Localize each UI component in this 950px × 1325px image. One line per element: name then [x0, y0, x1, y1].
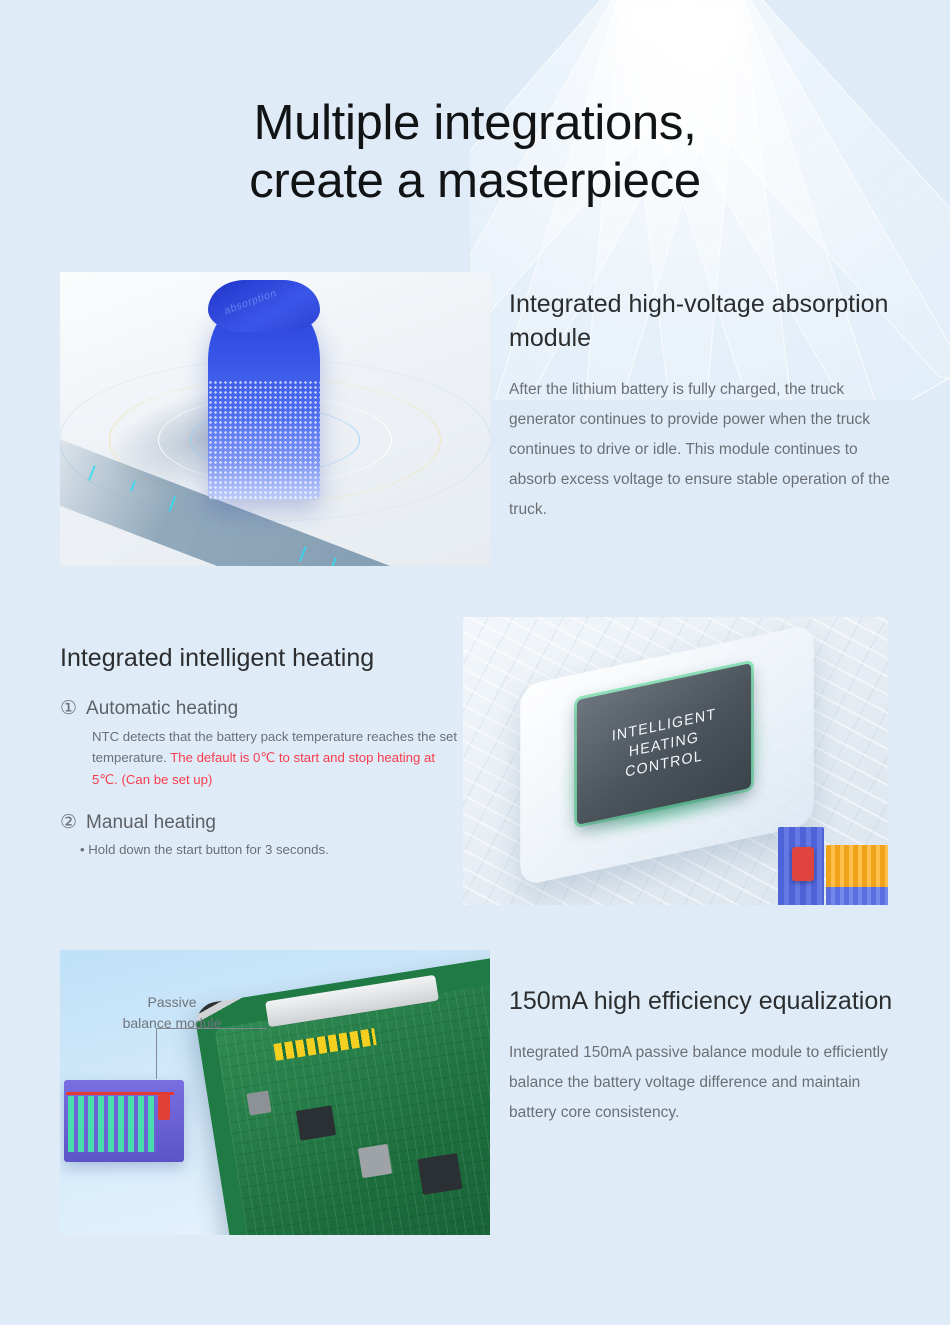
heating-item-manual: ② Manual heating [60, 812, 460, 834]
annotation-leader-line [156, 1028, 267, 1079]
absorption-module-image: absorption [60, 272, 490, 566]
equalization-heading: 150mA high efficiency equalization [509, 985, 899, 1019]
manual-heating-bullet: • Hold down the start button for 3 secon… [80, 842, 460, 857]
equalization-body: Integrated 150mA passive balance module … [509, 1038, 899, 1129]
manual-heating-label: Manual heating [86, 812, 216, 834]
heating-item-automatic: ① Automatic heating [60, 698, 460, 720]
pcb-chip-qfp [417, 1153, 462, 1195]
equalization-text-block: 150mA high efficiency equalization Integ… [509, 985, 899, 1128]
list-marker-1: ① [60, 699, 77, 718]
battery-module-inset [778, 825, 888, 905]
automatic-heating-label: Automatic heating [86, 698, 238, 720]
page-headline: Multiple integrations, create a masterpi… [0, 95, 950, 211]
headline-line-2: create a masterpiece [0, 153, 950, 211]
battery-pack-illustration [64, 1080, 184, 1162]
annotation-line-1: Passive [88, 992, 256, 1013]
absorption-body: After the lithium battery is fully charg… [509, 375, 891, 526]
pcb-chip-small [246, 1090, 271, 1115]
passive-balance-annotation: Passive balance module [88, 992, 256, 1034]
absorption-text-block: Integrated high-voltage absorption modul… [509, 288, 891, 526]
intelligent-heating-image: INTELLIGENT HEATING CONTROL [463, 617, 888, 905]
passive-balance-image: Passive balance module [60, 950, 490, 1235]
heating-text-block: Integrated intelligent heating ① Automat… [60, 642, 460, 857]
automatic-heating-detail: NTC detects that the battery pack temper… [92, 726, 460, 790]
heating-heading: Integrated intelligent heating [60, 642, 460, 676]
pcb-inductor [358, 1144, 392, 1178]
absorption-heading: Integrated high-voltage absorption modul… [509, 288, 891, 356]
annotation-line-2: balance module [88, 1013, 256, 1034]
headline-line-1: Multiple integrations, [0, 95, 950, 153]
pcb-chip-large [296, 1105, 336, 1140]
list-marker-2: ② [60, 813, 77, 832]
